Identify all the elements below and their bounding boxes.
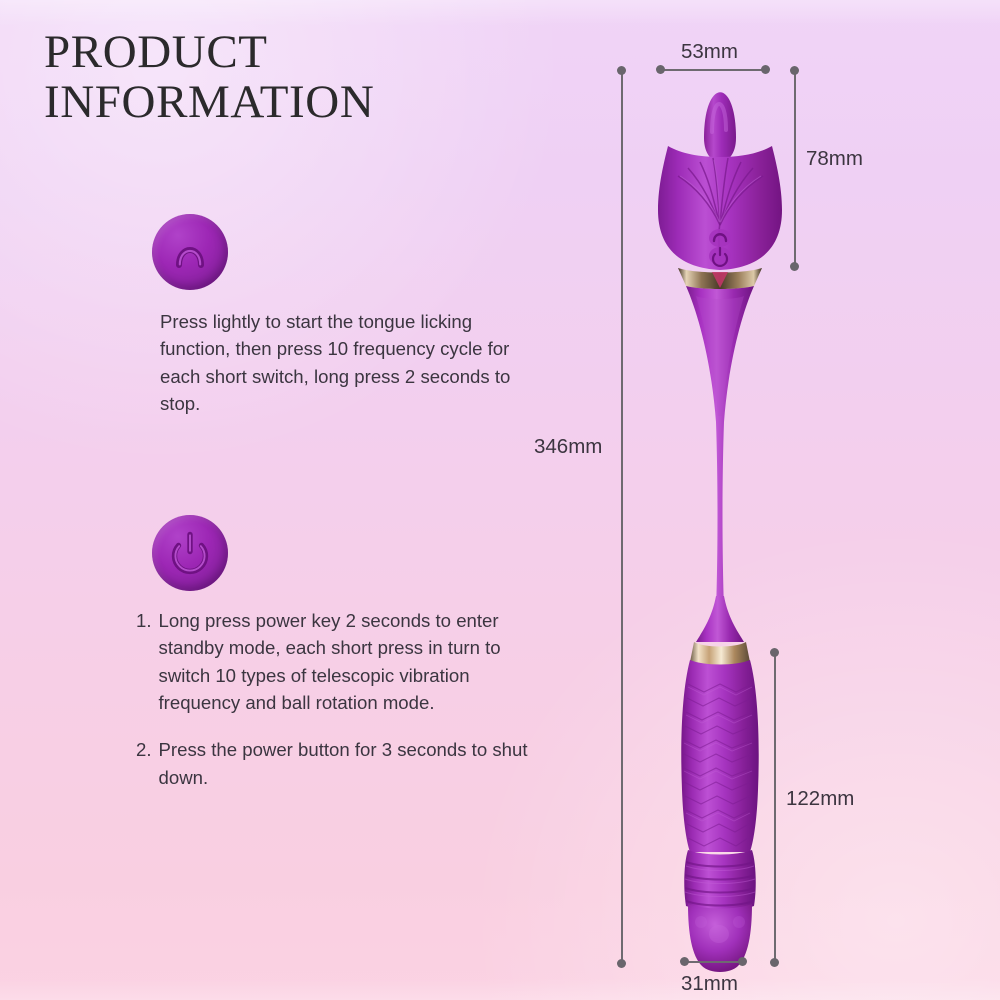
dimension-dot (656, 65, 665, 74)
power-icon (152, 515, 228, 591)
list-item: 2. Press the power button for 3 seconds … (136, 736, 536, 791)
background-edge-bottom (0, 978, 1000, 1000)
feature-block-power (152, 515, 228, 591)
dimension-line-head-width (660, 69, 766, 71)
dimension-label-total-length: 346mm (534, 435, 602, 459)
list-item-text: Press the power button for 3 seconds to … (159, 736, 536, 791)
dimension-dot (680, 957, 689, 966)
dimension-label-base-width: 31mm (681, 972, 738, 996)
dimension-label-handle-length: 122mm (786, 787, 854, 811)
dimension-dot (770, 648, 779, 657)
dimension-label-head-width: 53mm (681, 40, 738, 64)
dimension-line-handle-length (774, 652, 776, 962)
dimension-dot (617, 66, 626, 75)
dimension-line-total-length (621, 70, 623, 964)
dimension-line-head-height (794, 70, 796, 266)
feature-tongue-description: Press lightly to start the tongue lickin… (160, 308, 520, 417)
dimension-label-head-height: 78mm (806, 147, 863, 171)
dimension-dot (770, 958, 779, 967)
page-title-line-1: PRODUCT (44, 26, 268, 78)
page-title-line-2: INFORMATION (44, 78, 524, 128)
dimension-dot (617, 959, 626, 968)
list-item-number: 2. (136, 736, 152, 791)
list-item: 1. Long press power key 2 seconds to ent… (136, 607, 536, 716)
product-information-page: PRODUCT INFORMATION Press lightly to sta… (0, 0, 1000, 1000)
dimension-line-base-width (684, 961, 742, 963)
page-title: PRODUCT INFORMATION (44, 28, 524, 128)
tongue-arch-icon (152, 214, 228, 290)
background-edge-top (0, 0, 1000, 26)
feature-block-tongue (152, 214, 228, 290)
list-item-text: Long press power key 2 seconds to enter … (159, 607, 536, 716)
dimension-dot (790, 262, 799, 271)
list-item-number: 1. (136, 607, 152, 716)
dimension-dot (790, 66, 799, 75)
dimension-dot (761, 65, 770, 74)
product-illustration (600, 50, 860, 980)
feature-power-list: 1. Long press power key 2 seconds to ent… (136, 607, 536, 811)
dimension-dot (738, 957, 747, 966)
